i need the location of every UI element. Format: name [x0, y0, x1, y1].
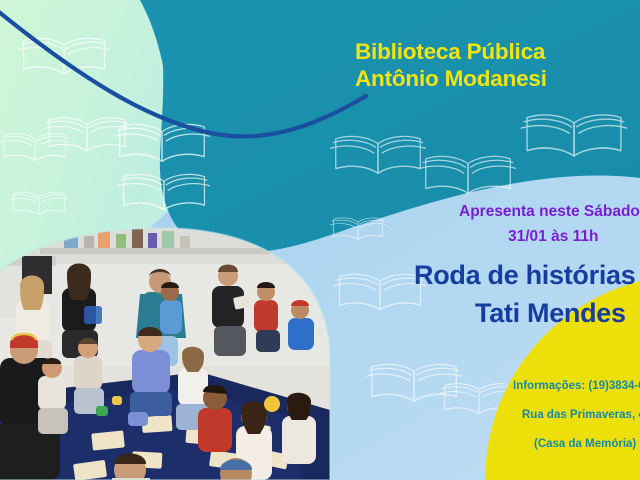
- event-title-line-2: Tati Mendes: [414, 294, 640, 332]
- event-title: Roda de histórias Tati Mendes: [414, 256, 640, 332]
- contact-info-block: Informações: (19)3834-63 Rua das Primave…: [513, 372, 640, 459]
- presents-block: Apresenta neste Sábado 31/01 às 11h: [459, 199, 640, 249]
- contact-phone-line: Informações: (19)3834-63: [513, 372, 640, 401]
- library-name-line-2: Antônio Modanesi: [355, 65, 547, 92]
- library-name: Biblioteca Pública Antônio Modanesi: [355, 38, 547, 92]
- library-name-line-1: Biblioteca Pública: [355, 38, 547, 65]
- contact-venue-line: (Casa da Memória): [513, 430, 640, 459]
- presents-line-2: 31/01 às 11h: [459, 224, 640, 249]
- presents-line-1: Apresenta neste Sábado: [459, 199, 640, 224]
- poster-canvas: Biblioteca Pública Antônio Modanesi Apre…: [0, 0, 640, 480]
- contact-address-line: Rua das Primaveras, 45: [513, 401, 640, 430]
- event-title-line-1: Roda de histórias: [414, 256, 640, 294]
